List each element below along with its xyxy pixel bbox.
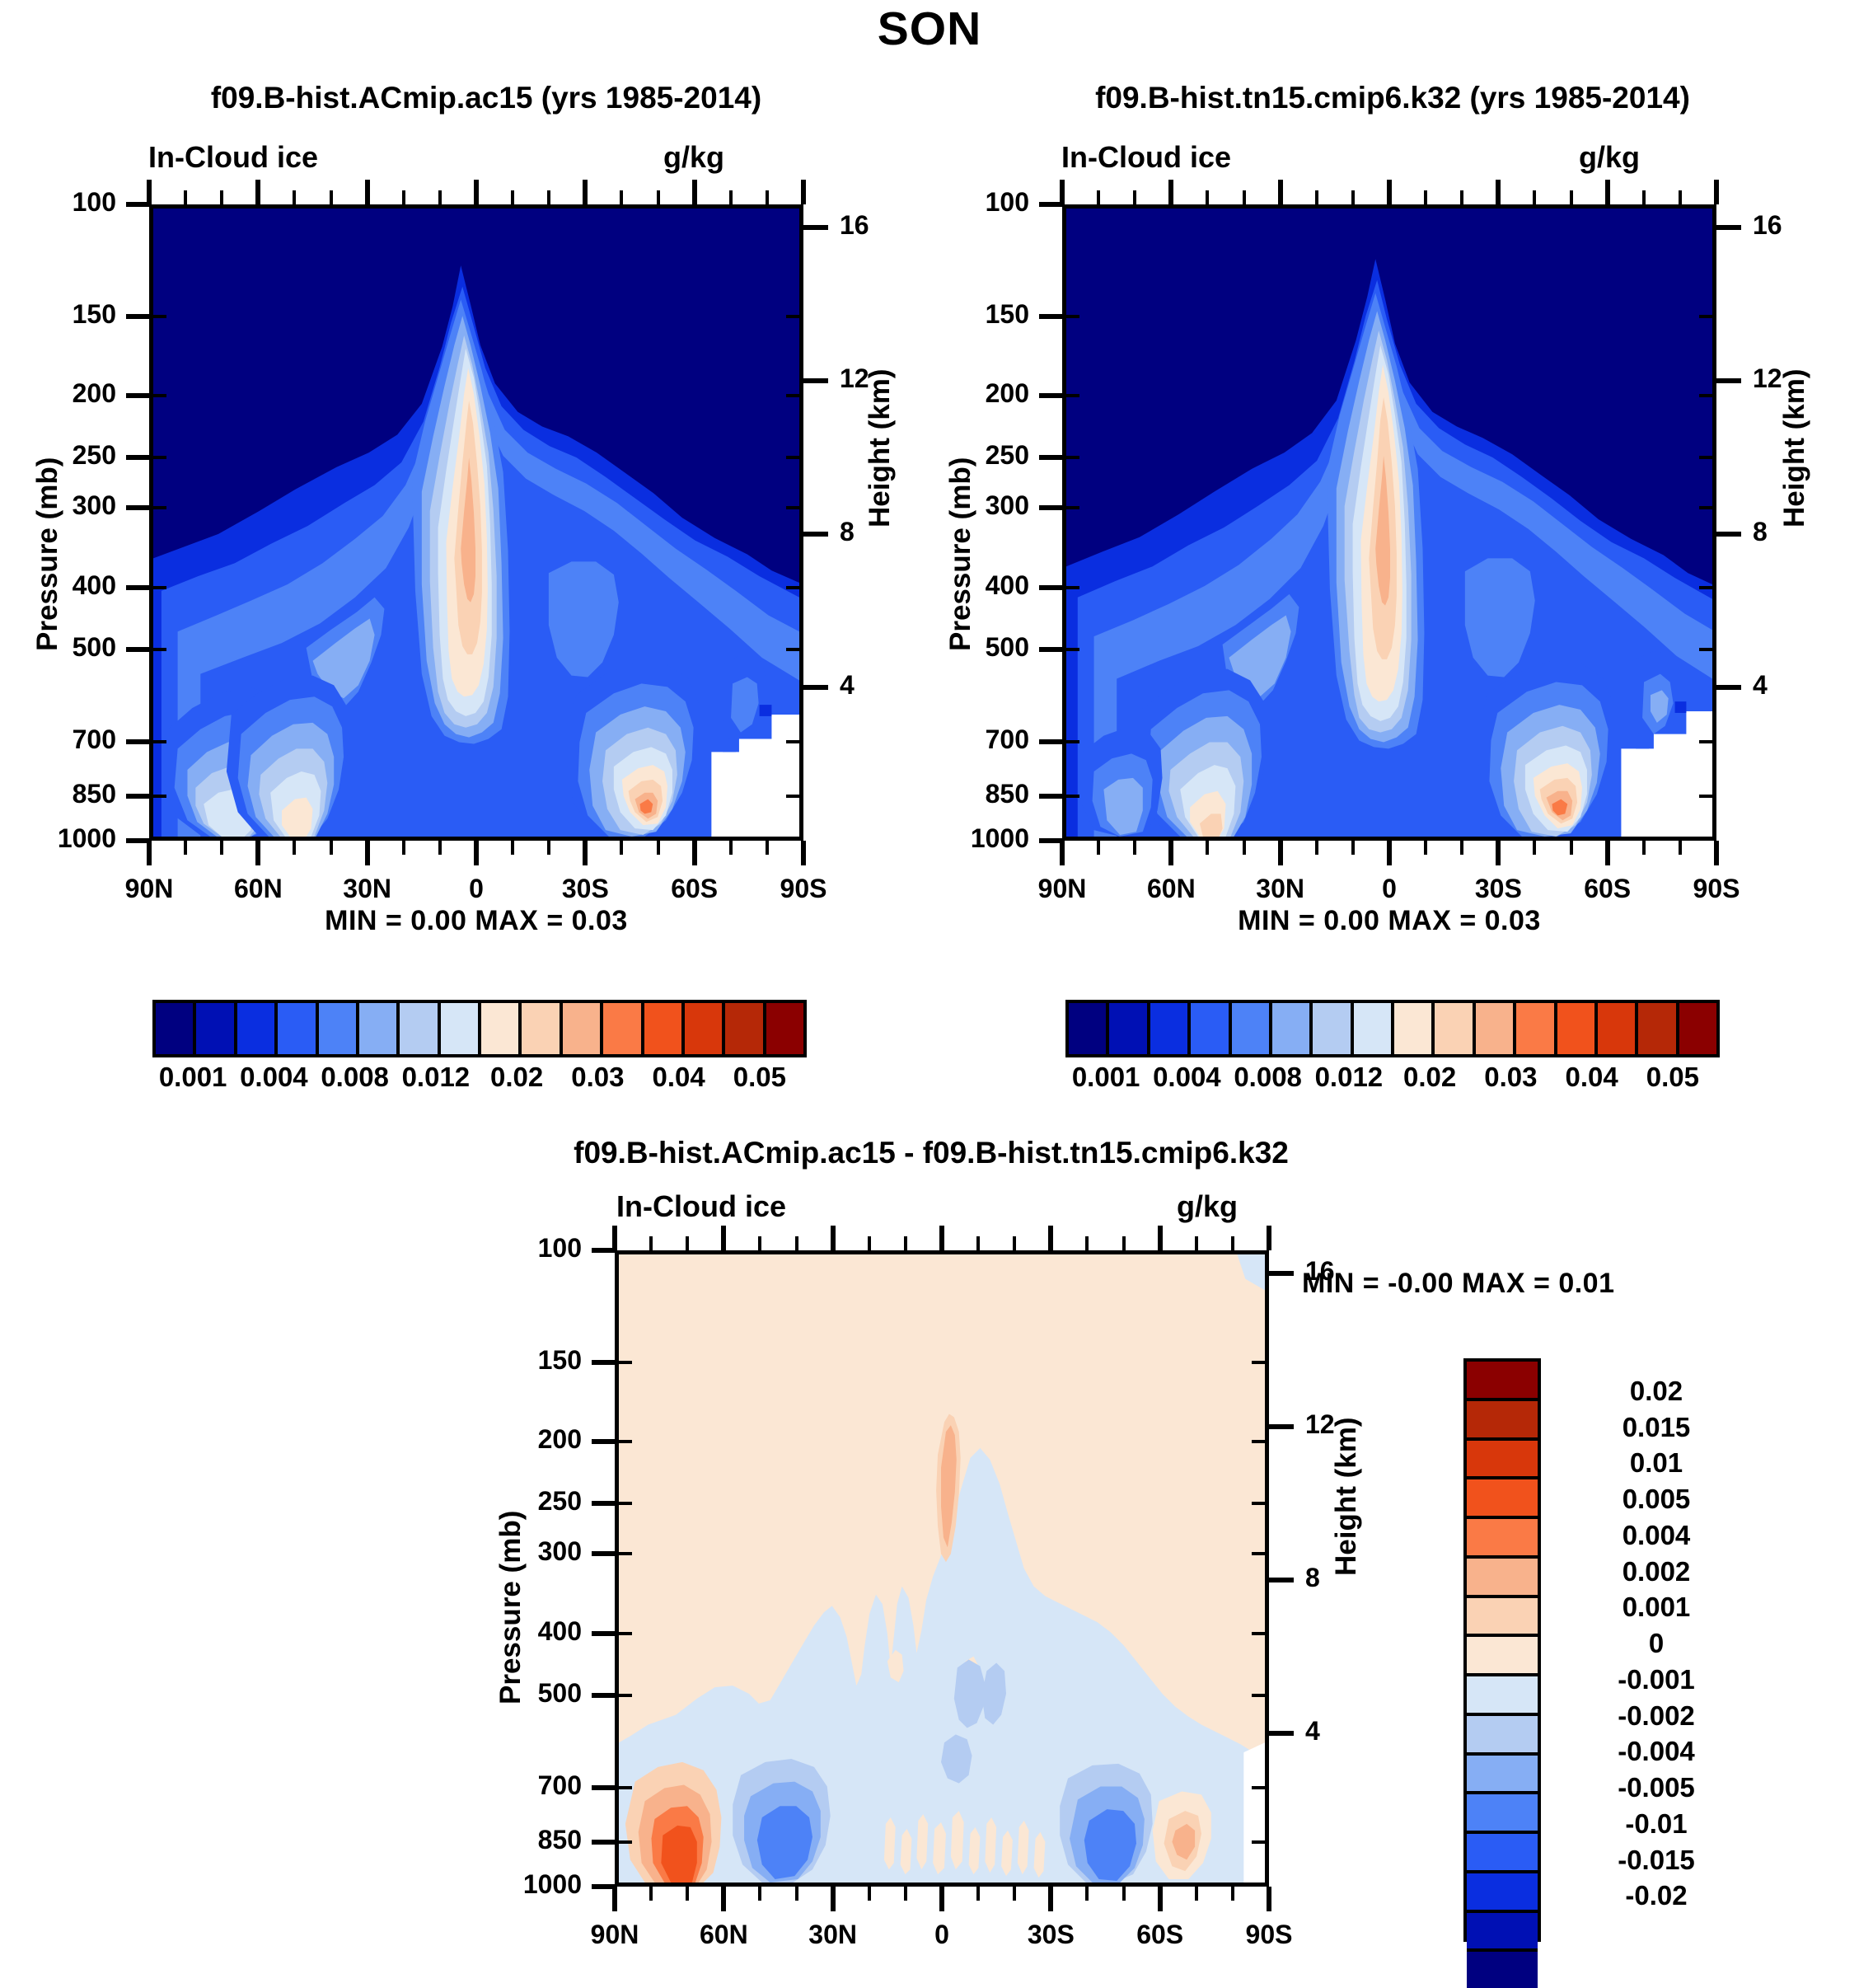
lat-tick-label: 90S: [1195, 1920, 1343, 1950]
colorbar-difference[interactable]: [1463, 1358, 1541, 1942]
colorbar-swatch[interactable]: [1467, 1794, 1538, 1834]
colorbar-tick-label: 0.005: [1549, 1484, 1763, 1515]
colorbar-swatch[interactable]: [1467, 1362, 1538, 1401]
colorbar-tick-label: -0.001: [1549, 1664, 1763, 1695]
colorbar-swatch[interactable]: [1467, 1834, 1538, 1873]
colorbar-swatch[interactable]: [1467, 1716, 1538, 1756]
colorbar-tick-label: 0.02: [1549, 1376, 1763, 1407]
colorbar-swatch[interactable]: [1467, 1756, 1538, 1795]
colorbar-swatch[interactable]: [1467, 1401, 1538, 1441]
colorbar-tick-label: 0.001: [1549, 1592, 1763, 1623]
colorbar-tick-label: -0.015: [1549, 1845, 1763, 1876]
colorbar-tick-label: 0.002: [1549, 1556, 1763, 1587]
colorbar-swatch[interactable]: [1467, 1676, 1538, 1716]
colorbar-swatch[interactable]: [1467, 1559, 1538, 1598]
colorbar-swatch[interactable]: [1467, 1441, 1538, 1480]
colorbar-swatch[interactable]: [1467, 1519, 1538, 1559]
colorbar-tick-label: -0.004: [1549, 1736, 1763, 1767]
colorbar-tick-label: -0.002: [1549, 1700, 1763, 1732]
colorbar-swatch[interactable]: [1467, 1913, 1538, 1953]
colorbar-swatch[interactable]: [1467, 1873, 1538, 1913]
colorbar-tick-label: 0.015: [1549, 1412, 1763, 1443]
colorbar-swatch[interactable]: [1467, 1598, 1538, 1638]
colorbar-tick-label: -0.02: [1549, 1880, 1763, 1911]
colorbar-tick-label: 0.01: [1549, 1447, 1763, 1479]
colorbar-swatch[interactable]: [1467, 1637, 1538, 1676]
colorbar-tick-label: -0.01: [1549, 1808, 1763, 1840]
minmax-diff: MIN = -0.00 MAX = 0.01: [1302, 1268, 1813, 1300]
colorbar-tick-label: 0.004: [1549, 1520, 1763, 1551]
colorbar-swatch[interactable]: [1467, 1479, 1538, 1519]
colorbar-swatch[interactable]: [1467, 1952, 1538, 1988]
colorbar-tick-label: -0.005: [1549, 1772, 1763, 1803]
colorbar-difference-labels: 0.020.0150.010.0050.0040.0020.0010-0.001…: [1549, 1358, 1763, 1935]
colorbar-tick-label: 0: [1549, 1628, 1763, 1659]
